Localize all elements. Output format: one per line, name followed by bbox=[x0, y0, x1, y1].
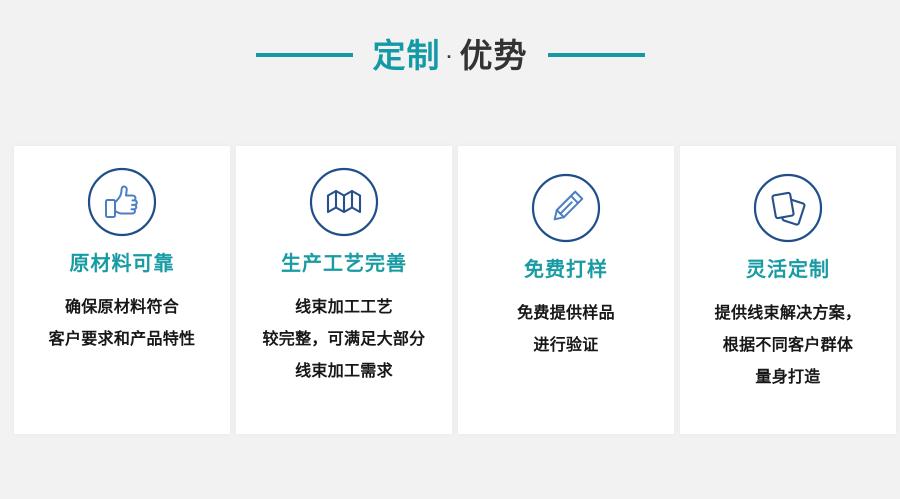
feature-card-title: 灵活定制 bbox=[746, 258, 830, 282]
heading-accent-text: 定制 bbox=[373, 39, 441, 72]
feature-card-body: 线束加工工艺 较完整，可满足大部分 线束加工需求 bbox=[244, 292, 444, 388]
folded-map-icon bbox=[306, 164, 382, 240]
feature-card[interactable]: 灵活定制 提供线束解决方案， 根据不同客户群体 量身打造 bbox=[680, 146, 896, 434]
heading-separator-dot: · bbox=[441, 48, 460, 66]
feature-card-row: 原材料可靠 确保原材料符合 客户要求和产品特性 生产工艺完善 线束加工工艺 较完… bbox=[14, 146, 896, 434]
heading-plain-text: 优势 bbox=[460, 39, 528, 72]
heading-text: 定制 · 优势 bbox=[373, 39, 528, 72]
feature-card[interactable]: 免费打样 免费提供样品 进行验证 bbox=[458, 146, 674, 434]
stacked-cards-icon bbox=[750, 170, 826, 246]
feature-card-body: 提供线束解决方案， 根据不同客户群体 量身打造 bbox=[688, 298, 888, 394]
heading-rule-right bbox=[548, 53, 645, 57]
section-heading: 定制 · 优势 bbox=[0, 30, 900, 80]
feature-card[interactable]: 生产工艺完善 线束加工工艺 较完整，可满足大部分 线束加工需求 bbox=[236, 146, 452, 434]
feature-card-body: 确保原材料符合 客户要求和产品特性 bbox=[22, 292, 222, 356]
heading-rule-left bbox=[256, 53, 353, 57]
feature-card-body: 免费提供样品 进行验证 bbox=[466, 298, 666, 362]
feature-card-title: 原材料可靠 bbox=[70, 252, 175, 276]
feature-card[interactable]: 原材料可靠 确保原材料符合 客户要求和产品特性 bbox=[14, 146, 230, 434]
feature-card-title: 免费打样 bbox=[524, 258, 608, 282]
feature-card-title: 生产工艺完善 bbox=[281, 252, 407, 276]
thumbs-up-icon bbox=[84, 164, 160, 240]
pencil-icon bbox=[528, 170, 604, 246]
